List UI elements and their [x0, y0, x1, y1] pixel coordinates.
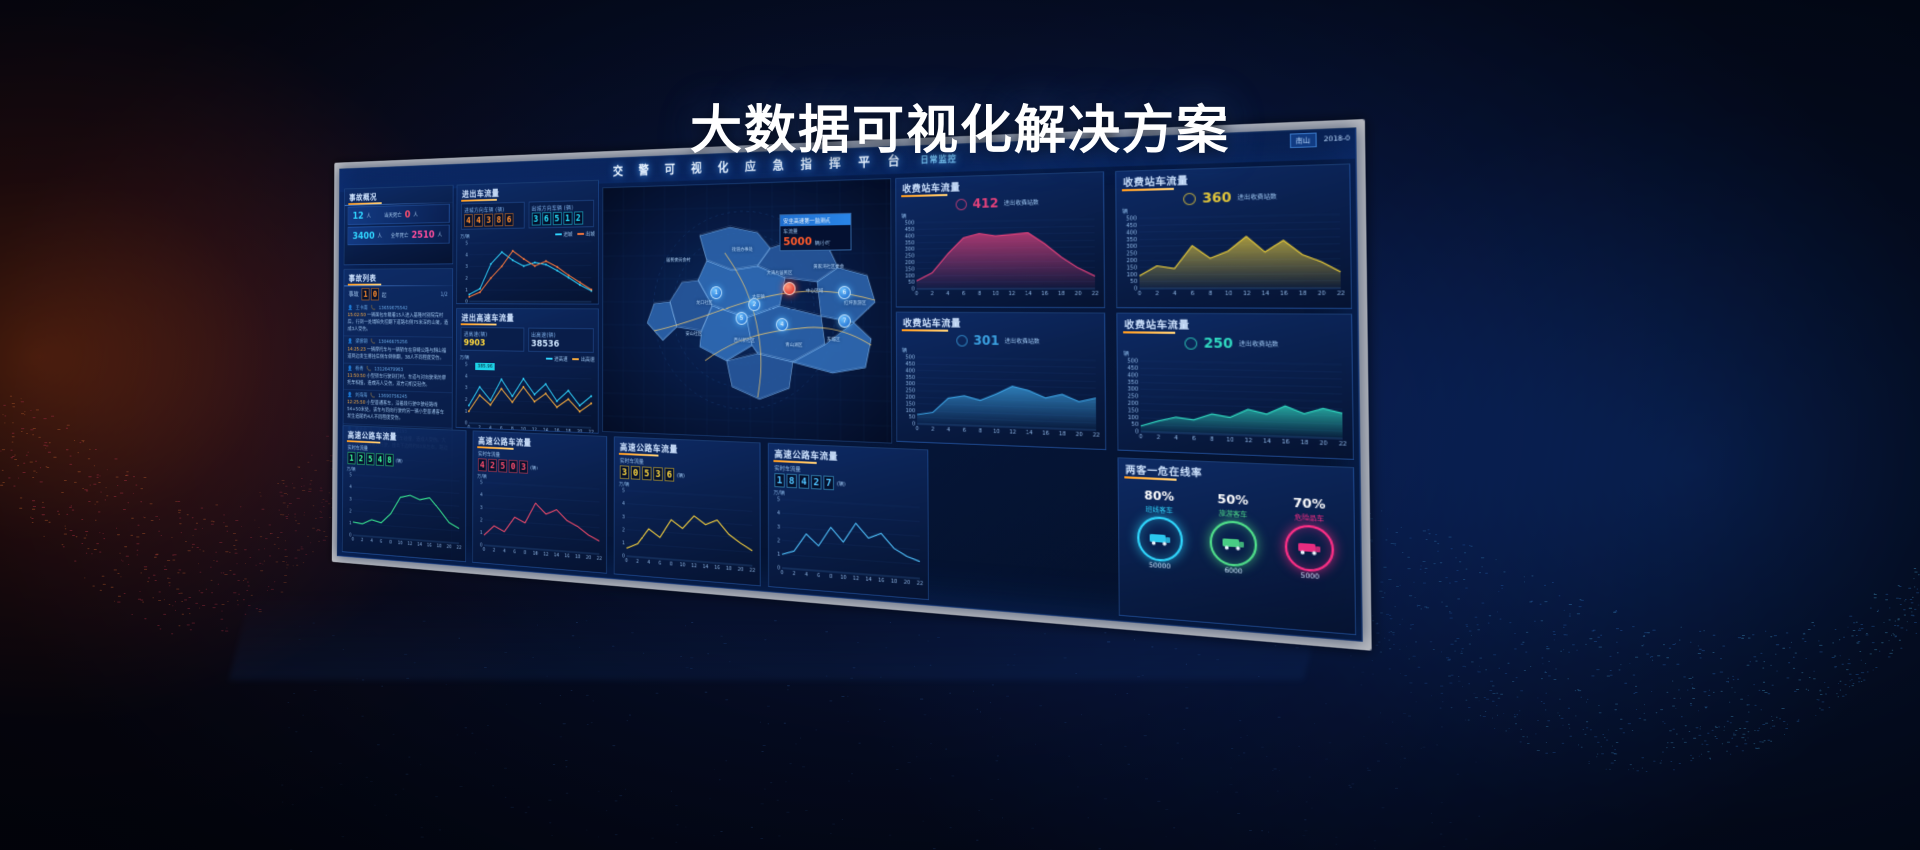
svg-text:400: 400 [905, 368, 915, 375]
svg-text:12: 12 [1008, 291, 1015, 298]
svg-text:450: 450 [1127, 365, 1138, 372]
toll-station-value: 301 [973, 333, 999, 348]
map-region-label: 居民委员会村 [666, 257, 690, 263]
accident-phone: 13046675256 [378, 339, 407, 347]
legend-swatch [555, 233, 562, 235]
svg-text:400: 400 [1127, 372, 1138, 379]
svg-text:12: 12 [1245, 437, 1253, 444]
toll-station-chart: 0501001502002503003504004505000246810121… [897, 354, 1103, 442]
accident-list-item[interactable]: 👤梁振钢📞1304667525614:25:23 一辆摩托车与一辆轿车在穿崎公路… [344, 337, 452, 366]
svg-text:0: 0 [468, 425, 470, 431]
svg-text:14: 14 [554, 552, 559, 558]
accident-counter-label: 事故 [349, 290, 359, 299]
highway-inout-ylabel: 万/辆 [460, 354, 469, 361]
svg-text:200: 200 [906, 394, 916, 401]
map-poi-marker[interactable]: 5 [736, 312, 748, 325]
svg-text:18: 18 [566, 429, 571, 434]
svg-text:3: 3 [622, 514, 625, 520]
svg-text:10: 10 [521, 303, 526, 304]
svg-text:6: 6 [500, 303, 503, 304]
today-accident-count: 12 [353, 210, 364, 222]
svg-text:150: 150 [1126, 265, 1137, 272]
online-rate-item: 50%旅游客车6000 [1209, 491, 1257, 577]
inflow-digits: 44386 [464, 213, 521, 227]
svg-text:2: 2 [931, 426, 934, 433]
svg-text:0: 0 [483, 547, 486, 553]
svg-text:18: 18 [1059, 431, 1066, 438]
svg-text:350: 350 [1126, 237, 1137, 244]
svg-text:250: 250 [1128, 393, 1139, 400]
toll-station-value: 360 [1202, 190, 1231, 206]
svg-text:500: 500 [1126, 216, 1137, 223]
svg-text:3: 3 [777, 524, 780, 530]
person-icon: 👤 [348, 339, 353, 346]
svg-text:500: 500 [905, 220, 915, 227]
particle-field-bottom [280, 620, 1480, 850]
highway-flow-unit: (辆) [530, 464, 537, 471]
svg-text:22: 22 [749, 567, 755, 574]
highway-inout-chart: 0123450246810121416182022 [458, 361, 596, 434]
highway-flow-card: 高速公路车流量实时车流量42503(辆)万/辆01234502468101214… [472, 430, 607, 573]
video-wall: 交 警 可 视 化 应 急 指 挥 平 台 日常监控 南山 2018-0 事故概… [238, 150, 1316, 592]
svg-text:20: 20 [577, 429, 582, 434]
map-region-label: 青山湖区 [785, 342, 802, 348]
person-icon: 👤 [348, 305, 353, 312]
svg-text:200: 200 [1126, 258, 1137, 265]
map-region-label: 黄家湾社区委会 [813, 264, 844, 270]
svg-text:18: 18 [566, 303, 571, 304]
digit-box: 0 [371, 288, 379, 300]
svg-text:500: 500 [1127, 358, 1138, 365]
legend-item: 进城 [555, 230, 572, 238]
svg-text:1: 1 [777, 551, 780, 557]
svg-text:0: 0 [911, 286, 914, 292]
svg-text:3: 3 [465, 264, 467, 270]
svg-text:22: 22 [457, 545, 462, 551]
svg-text:2: 2 [1157, 434, 1161, 441]
svg-text:16: 16 [427, 543, 432, 549]
svg-text:16: 16 [1041, 291, 1048, 298]
toll-station-card: 收费站车流量250进出收费站数辆050100150200250300350400… [1116, 313, 1354, 460]
svg-text:6: 6 [380, 539, 382, 545]
svg-text:22: 22 [917, 580, 923, 587]
toll-station-title: 收费站车流量 [1117, 314, 1351, 336]
highway-flow-chart: 0123450246810121416182022 [343, 472, 464, 554]
pulse-ring-icon [956, 198, 967, 210]
map-tooltip-metric-label: 车流量 [783, 227, 847, 235]
accident-time: 15:02:50 [348, 313, 366, 318]
highway-flow-card: 高速公路车流量实时车流量30536(辆)万/辆01234502468101214… [614, 436, 761, 586]
svg-text:3: 3 [465, 385, 467, 391]
inout-ylabel: 万/辆 [460, 233, 469, 240]
highway-chart-tooltip: 385.96 [475, 363, 495, 371]
map-tooltip: 安坐高速第一监测点 车流量 5000 辆/小时 [779, 213, 851, 251]
accident-time: 14:25:23 [347, 347, 365, 353]
digit-box: 4 [464, 214, 473, 227]
digit-box: 5 [642, 466, 652, 480]
svg-text:150: 150 [1128, 407, 1139, 414]
map-tooltip-value: 5000 [783, 235, 812, 248]
svg-text:8: 8 [511, 303, 514, 304]
svg-text:400: 400 [905, 233, 915, 240]
year-accident-unit: 人 [378, 231, 382, 239]
svg-text:2: 2 [480, 518, 483, 524]
svg-text:4: 4 [370, 538, 372, 544]
svg-text:22: 22 [1337, 290, 1345, 297]
svg-text:4: 4 [1173, 291, 1177, 298]
toll-station-sub: 进出收费站数 [1005, 337, 1040, 346]
svg-text:2: 2 [465, 276, 467, 282]
svg-text:8: 8 [389, 540, 391, 546]
phone-icon: 📞 [371, 305, 376, 312]
digit-box: 1 [348, 452, 356, 465]
svg-text:18: 18 [1299, 290, 1307, 297]
highway-ylabel: 万/辆 [769, 489, 928, 505]
phone-icon: 📞 [366, 366, 371, 373]
svg-text:0: 0 [781, 570, 784, 576]
today-death-label: 当天死亡 [384, 211, 402, 219]
svg-text:20: 20 [738, 567, 744, 574]
accident-stat-row-year: 3400 人 全年死亡 2510 人 [347, 225, 449, 246]
svg-text:2: 2 [931, 291, 934, 297]
svg-text:18: 18 [726, 566, 732, 573]
svg-text:10: 10 [1226, 437, 1234, 444]
svg-text:100: 100 [1126, 272, 1137, 279]
highway-flow-digits: 42503 [478, 458, 528, 474]
svg-text:4: 4 [647, 560, 650, 566]
svg-text:5: 5 [465, 241, 467, 247]
person-icon: 👤 [347, 365, 352, 372]
pulse-ring-icon [1185, 337, 1198, 349]
accident-overview-title: 事故概况 [345, 186, 453, 205]
highway-flow-digits: 18427 [774, 473, 834, 490]
svg-text:50: 50 [908, 280, 914, 286]
year-accident-count: 3400 [352, 230, 374, 242]
toll-ylabel: 辆 [1117, 203, 1350, 216]
map-poi-marker[interactable]: 6 [838, 286, 851, 299]
digit-box: 3 [531, 212, 540, 225]
digit-box: 1 [774, 473, 784, 488]
digit-box: 2 [574, 211, 583, 224]
digit-box: 4 [376, 453, 384, 466]
inout-flow-chart: 0123450246810121416182022 [458, 237, 596, 304]
digit-box: 5 [552, 212, 561, 225]
svg-text:1: 1 [622, 540, 625, 546]
svg-text:12: 12 [1009, 429, 1016, 436]
digit-box: 7 [823, 475, 834, 490]
svg-text:14: 14 [1026, 430, 1033, 437]
svg-text:200: 200 [1128, 400, 1139, 407]
svg-text:16: 16 [714, 565, 720, 572]
svg-text:4: 4 [465, 253, 467, 259]
wall-surface: 交 警 可 视 化 应 急 指 挥 平 台 日常监控 南山 2018-0 事故概… [337, 127, 1363, 641]
accident-counter-unit: 起 [382, 290, 386, 298]
svg-text:14: 14 [1025, 291, 1032, 298]
digit-box: 1 [563, 212, 572, 225]
svg-text:10: 10 [1225, 290, 1233, 297]
map-poi-marker[interactable]: 1 [710, 286, 722, 299]
svg-text:4: 4 [777, 510, 780, 516]
digit-box: 3 [519, 460, 528, 474]
svg-text:4: 4 [480, 492, 483, 498]
year-death-unit: 人 [438, 230, 443, 238]
today-accident-unit: 人 [367, 211, 371, 219]
toll-station-card: 收费站车流量360进出收费站数辆050100150200250300350400… [1115, 163, 1352, 309]
svg-text:0: 0 [777, 565, 780, 571]
svg-text:16: 16 [1042, 430, 1049, 437]
svg-text:2: 2 [777, 538, 780, 544]
svg-text:50: 50 [909, 414, 915, 421]
map-poi-marker[interactable]: 7 [838, 314, 851, 327]
svg-text:16: 16 [564, 553, 569, 559]
digit-box: 2 [811, 475, 822, 490]
svg-text:100: 100 [906, 408, 916, 415]
svg-text:8: 8 [1210, 436, 1214, 443]
svg-text:8: 8 [979, 428, 982, 435]
digit-box: 3 [653, 467, 663, 481]
highway-flow-title: 高速公路车流量 [769, 444, 928, 469]
digit-box: 2 [357, 452, 365, 465]
svg-text:12: 12 [853, 575, 859, 582]
toll-station-title: 收费站车流量 [896, 172, 1103, 197]
svg-text:300: 300 [1127, 386, 1138, 393]
svg-text:18: 18 [1301, 439, 1309, 446]
toll-station-title: 收费站车流量 [1116, 165, 1349, 192]
legend-swatch [577, 233, 584, 235]
svg-text:400: 400 [1126, 230, 1137, 237]
today-death-count: 0 [405, 209, 411, 221]
map-region-label: 太平镇 [752, 294, 765, 300]
svg-text:14: 14 [865, 576, 871, 583]
phone-icon: 📞 [370, 339, 375, 346]
digit-box: 4 [474, 214, 483, 227]
svg-text:1: 1 [465, 409, 467, 415]
accident-list-item[interactable]: 👤杨青📞1312647996311:50:50 小型轿车行驶到打村，车道与对向驶… [344, 363, 452, 393]
svg-text:150: 150 [905, 266, 915, 272]
svg-text:0: 0 [352, 537, 354, 543]
svg-text:250: 250 [905, 388, 915, 395]
year-death-count: 2510 [412, 229, 435, 241]
pulse-ring-icon [957, 334, 968, 346]
highway-flow-card: 高速公路车流量实时车流量12548(辆)万/辆01234502468101214… [342, 425, 467, 562]
svg-text:4: 4 [503, 548, 506, 554]
svg-text:2: 2 [361, 538, 363, 544]
digit-box: 1 [361, 288, 369, 300]
svg-text:10: 10 [840, 574, 846, 581]
highway-flow-card: 高速公路车流量实时车流量18427(辆)万/辆01234502468101214… [768, 443, 929, 601]
svg-text:100: 100 [1128, 414, 1139, 421]
accident-time: 11:50:50 [347, 373, 365, 379]
highway-flow-unit: (辆) [837, 480, 846, 488]
bus-icon [1137, 515, 1183, 562]
svg-text:0: 0 [625, 558, 628, 564]
digit-box: 2 [488, 459, 497, 472]
svg-text:20: 20 [586, 555, 591, 561]
svg-text:4: 4 [349, 485, 351, 491]
highway-inout-title: 进出高速车流量 [457, 309, 598, 327]
accident-overview-card: 事故概况 12 人 当天死亡 0 人 3400 人 全年死亡 2510 人 [344, 185, 454, 266]
accident-person-name: 王卡南 [356, 305, 368, 312]
svg-text:0: 0 [1139, 434, 1143, 441]
highway-inout-card: 进出高速车流量 进高速(辆) 9903 出高速(辆) 38536 万/辆 [456, 308, 599, 434]
svg-text:50: 50 [1130, 279, 1137, 286]
china-region-map[interactable] [603, 179, 892, 444]
map-region-label: 安山社区 [686, 331, 702, 337]
digit-box: 4 [799, 474, 809, 489]
svg-text:10: 10 [993, 429, 1000, 436]
map-poi-marker[interactable] [783, 282, 795, 295]
svg-text:16: 16 [878, 577, 884, 584]
page-headline: 大数据可视化解决方案 [0, 88, 1920, 163]
highway-flow-unit: (辆) [396, 457, 403, 464]
map-tooltip-title: 安坐高速第一监测点 [780, 214, 850, 227]
highway-metric-label: 实时车流量 [769, 462, 928, 481]
svg-text:0: 0 [912, 421, 915, 428]
svg-text:0: 0 [465, 299, 467, 304]
svg-text:5: 5 [777, 497, 780, 503]
map-region-label: 龙口社区 [696, 300, 712, 306]
svg-text:22: 22 [1092, 291, 1099, 298]
accident-stat-row-today: 12 人 当天死亡 0 人 [348, 204, 450, 225]
toll-station-value: 412 [972, 196, 998, 211]
svg-text:0: 0 [1135, 429, 1139, 436]
inout-legend: 进城出城 [555, 230, 595, 238]
digit-box: 6 [505, 213, 514, 226]
svg-text:22: 22 [588, 429, 593, 433]
svg-text:300: 300 [905, 381, 915, 388]
toll-ylabel: 辆 [897, 347, 1105, 358]
svg-text:6: 6 [963, 427, 966, 434]
svg-text:14: 14 [1262, 290, 1270, 297]
svg-text:20: 20 [447, 544, 452, 550]
accident-list-page[interactable]: 1/2 [440, 291, 447, 297]
svg-text:50: 50 [1131, 422, 1138, 429]
toll-station-sub: 进出收费站数 [1237, 192, 1276, 202]
digit-box: 0 [509, 460, 518, 473]
map-region-label: 街道办事处 [732, 247, 753, 253]
svg-text:4: 4 [1174, 435, 1178, 442]
highway-flow-chart: 0123450246810121416182022 [769, 496, 926, 591]
svg-text:2: 2 [349, 509, 351, 515]
toll-station-sub: 进出收费站数 [1004, 198, 1039, 207]
digit-box: 8 [494, 213, 503, 226]
map-card[interactable]: 124567 居民委员会村街道办事处大湾片居民区黄家湾社区委会龙口社区太平镇中心… [602, 178, 892, 444]
svg-text:4: 4 [622, 501, 625, 507]
inout-flow-card: 进出车流量 进城方向车辆 (辆) 44386 出城方向车辆 (辆) 36512 … [456, 180, 599, 305]
svg-text:300: 300 [905, 247, 915, 253]
online-rate-count: 6000 [1210, 566, 1258, 577]
svg-text:10: 10 [680, 562, 686, 568]
today-death-unit: 人 [413, 210, 418, 218]
toll-station-value: 250 [1203, 335, 1233, 351]
svg-text:22: 22 [597, 556, 602, 562]
digit-box: 0 [631, 466, 640, 480]
legend-swatch [546, 358, 553, 360]
digit-box: 5 [366, 453, 374, 466]
svg-text:20: 20 [1319, 440, 1327, 447]
digit-box: 6 [542, 212, 551, 225]
toll-station-sub: 进出收费站数 [1239, 339, 1279, 349]
svg-text:3: 3 [480, 505, 483, 511]
svg-text:5: 5 [480, 480, 483, 486]
map-tooltip-unit: 辆/小时 [815, 240, 831, 247]
toll-ylabel: 辆 [896, 208, 1103, 220]
svg-text:100: 100 [905, 273, 915, 279]
svg-text:5: 5 [349, 473, 351, 479]
svg-text:150: 150 [906, 401, 916, 408]
outflow-digits: 36512 [531, 211, 590, 225]
svg-text:2: 2 [493, 548, 496, 554]
svg-text:6: 6 [513, 549, 516, 555]
svg-text:20: 20 [904, 579, 910, 586]
svg-text:2: 2 [636, 559, 639, 565]
accident-time: 12:25:50 [347, 400, 365, 406]
svg-text:20: 20 [577, 303, 582, 304]
highway-flow-digits: 30536 [620, 465, 674, 481]
svg-text:450: 450 [905, 361, 915, 368]
online-rate-name: 危险品车 [1285, 511, 1334, 524]
svg-text:8: 8 [978, 291, 981, 298]
svg-text:6: 6 [817, 573, 820, 580]
svg-text:0: 0 [468, 303, 470, 304]
toll-station-chart: 0501001502002503003504004505000246810121… [1118, 357, 1351, 451]
svg-text:350: 350 [905, 240, 915, 246]
svg-text:5: 5 [622, 488, 625, 494]
svg-text:2: 2 [479, 303, 481, 304]
legend-label: 出城 [586, 230, 595, 238]
svg-text:18: 18 [575, 554, 580, 560]
svg-text:22: 22 [589, 304, 594, 305]
svg-text:18: 18 [1058, 291, 1065, 298]
highway-flow-unit: (辆) [677, 472, 685, 479]
digit-box: 3 [620, 465, 629, 479]
legend-item: 出城 [577, 230, 594, 238]
toll-station-card: 收费站车流量301进出收费站数辆050100150200250300350400… [896, 312, 1107, 451]
map-poi-marker[interactable]: 4 [776, 318, 788, 331]
svg-text:12: 12 [532, 303, 537, 304]
svg-text:6: 6 [659, 560, 662, 566]
svg-text:20: 20 [1076, 431, 1083, 438]
svg-text:6: 6 [1191, 291, 1195, 298]
svg-text:8: 8 [1209, 291, 1213, 298]
online-rate-item: 80%班线客车50000 [1136, 488, 1182, 572]
digit-box: 4 [478, 458, 487, 471]
svg-text:22: 22 [1339, 441, 1347, 448]
accident-list-title: 事故列表 [344, 269, 452, 286]
svg-text:5: 5 [465, 362, 467, 368]
svg-text:18: 18 [437, 543, 442, 549]
svg-text:450: 450 [1126, 223, 1137, 230]
online-rate-pct: 50% [1209, 491, 1257, 508]
svg-text:20: 20 [1075, 291, 1082, 298]
svg-text:4: 4 [465, 374, 467, 380]
svg-text:18: 18 [891, 578, 897, 585]
toll-station-chart: 0501001502002503003504004505000246810121… [896, 216, 1101, 301]
year-death-label: 全年死亡 [391, 231, 409, 239]
svg-text:14: 14 [417, 542, 422, 548]
svg-text:0: 0 [916, 426, 919, 433]
highway-in-value: 9903 [464, 338, 521, 349]
accident-person-name: 杨青 [355, 365, 363, 372]
accident-list-item[interactable]: 👤王卡南📞1365967554215:02:50 一辆面包车载着15人进入基隆村… [344, 303, 452, 338]
online-rate-pct: 80% [1136, 488, 1182, 505]
svg-text:1: 1 [480, 530, 483, 536]
svg-text:300: 300 [1126, 244, 1137, 251]
svg-text:250: 250 [1126, 251, 1137, 258]
svg-text:2: 2 [622, 527, 625, 533]
svg-text:12: 12 [543, 552, 548, 558]
legend-swatch [573, 358, 580, 360]
